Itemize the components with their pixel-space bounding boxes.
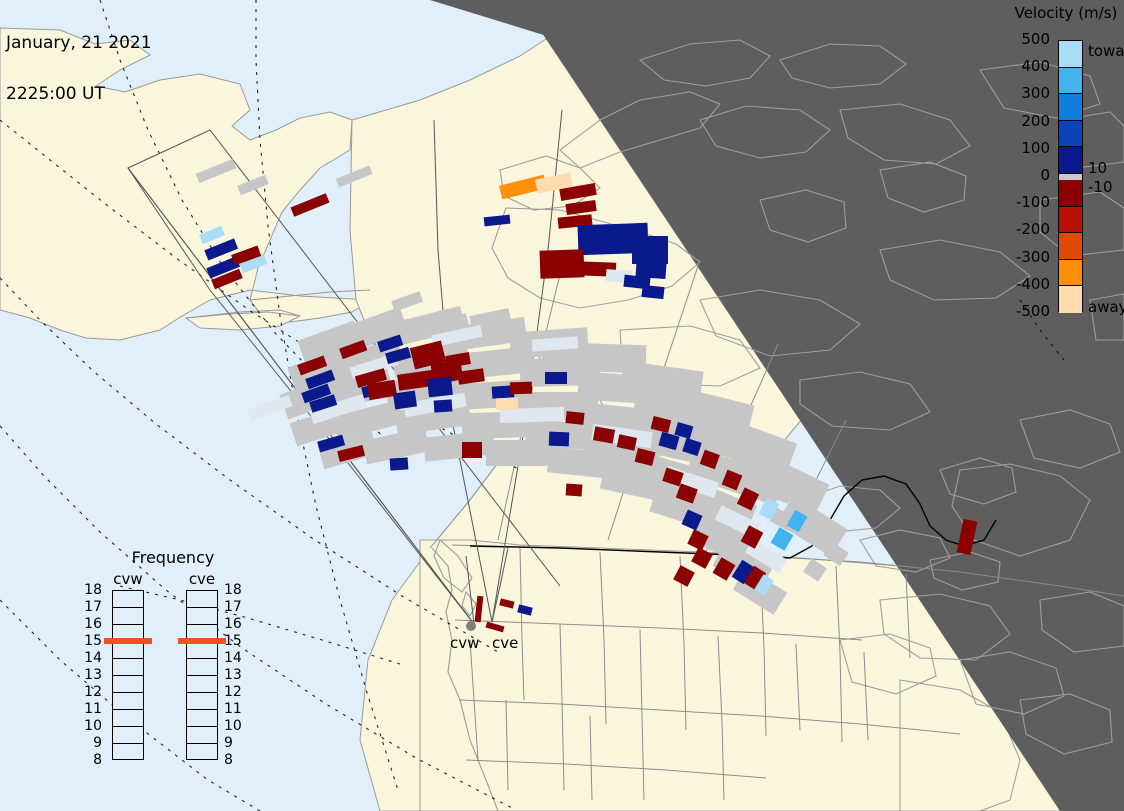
date-label: January, 21 2021 xyxy=(6,35,152,52)
radar-site-marker xyxy=(466,621,476,631)
frequency-legend: Frequency cvw18171615141312111098cve1817… xyxy=(88,548,268,788)
colorbar-tick-neg500: -500 xyxy=(994,304,1050,319)
timestamp-block: January, 21 2021 2225:00 UT xyxy=(6,1,152,137)
frequency-tick-cve-9: 9 xyxy=(224,736,246,750)
frequency-tick-cve-16: 16 xyxy=(224,617,246,631)
frequency-tick-cvw-16: 16 xyxy=(80,617,102,631)
frequency-segment xyxy=(187,693,217,710)
frequency-segment xyxy=(113,693,143,710)
frequency-tick-cve-8: 8 xyxy=(224,753,246,767)
colorbar-neg-threshold-label: -10 xyxy=(1088,180,1113,195)
frequency-segment xyxy=(113,744,143,761)
frequency-segment xyxy=(113,642,143,659)
colorbar-tick-neg400: -400 xyxy=(994,277,1050,292)
frequency-tick-cve-13: 13 xyxy=(224,668,246,682)
frequency-segment xyxy=(187,744,217,761)
colorbar-band-10 xyxy=(1059,286,1082,313)
frequency-tick-cvw-12: 12 xyxy=(80,685,102,699)
frequency-segment xyxy=(113,608,143,625)
site-label-cvw: cvw xyxy=(450,634,479,652)
colorbar-tick-0: 0 xyxy=(994,168,1050,183)
colorbar-tick-neg200: -200 xyxy=(994,222,1050,237)
frequency-segment xyxy=(187,676,217,693)
frequency-tick-cvw-18: 18 xyxy=(80,583,102,597)
frequency-segment xyxy=(113,659,143,676)
colorbar-tick-300: 300 xyxy=(994,86,1050,101)
frequency-title: Frequency xyxy=(88,548,258,567)
colorbar-away-label: away xyxy=(1088,300,1124,315)
colorbar-toward-label: toward xyxy=(1088,44,1124,59)
frequency-tick-cve-18: 18 xyxy=(224,583,246,597)
colorbar-pos-threshold-label: 10 xyxy=(1088,161,1107,176)
site-label-cve: cve xyxy=(492,634,518,652)
frequency-segment xyxy=(113,710,143,727)
colorbar-strip xyxy=(1058,40,1083,312)
colorbar-band-9 xyxy=(1059,260,1082,287)
colorbar-band-1 xyxy=(1059,68,1082,95)
frequency-tick-cvw-13: 13 xyxy=(80,668,102,682)
radar-fan-plot: cvw cve January, 21 2021 2225:00 UT Velo… xyxy=(0,0,1124,811)
frequency-segment xyxy=(187,659,217,676)
frequency-tick-cvw-17: 17 xyxy=(80,600,102,614)
colorbar-tick-neg300: -300 xyxy=(994,250,1050,265)
colorbar-tick-200: 200 xyxy=(994,114,1050,129)
frequency-tick-cvw-14: 14 xyxy=(80,651,102,665)
colorbar-band-7 xyxy=(1059,207,1082,234)
frequency-segment xyxy=(113,727,143,744)
frequency-tick-cvw-11: 11 xyxy=(80,702,102,716)
frequency-tick-cvw-10: 10 xyxy=(80,719,102,733)
velocity-colorbar: Velocity (m/s) 5004003002001000-100-200-… xyxy=(1012,0,1124,340)
frequency-marker-cve xyxy=(178,638,226,644)
colorbar-band-2 xyxy=(1059,94,1082,121)
frequency-segment xyxy=(113,676,143,693)
frequency-tick-cvw-15: 15 xyxy=(80,634,102,648)
time-label: 2225:00 UT xyxy=(6,86,152,103)
colorbar-tick-100: 100 xyxy=(994,141,1050,156)
frequency-tick-cve-14: 14 xyxy=(224,651,246,665)
frequency-bar-cvw xyxy=(112,590,144,760)
frequency-segment xyxy=(187,727,217,744)
frequency-tick-cve-12: 12 xyxy=(224,685,246,699)
frequency-tick-cve-11: 11 xyxy=(224,702,246,716)
frequency-segment xyxy=(187,608,217,625)
frequency-segment xyxy=(187,642,217,659)
colorbar-band-0 xyxy=(1059,41,1082,68)
frequency-station-name-cvw: cvw xyxy=(106,570,150,588)
colorbar-tick-500: 500 xyxy=(994,32,1050,47)
frequency-tick-cvw-9: 9 xyxy=(80,736,102,750)
frequency-segment xyxy=(187,710,217,727)
colorbar-band-3 xyxy=(1059,121,1082,148)
colorbar-band-6 xyxy=(1059,180,1082,207)
frequency-tick-cve-15: 15 xyxy=(224,634,246,648)
frequency-marker-cvw xyxy=(104,638,152,644)
colorbar-title: Velocity (m/s) xyxy=(1006,4,1124,22)
frequency-tick-cve-17: 17 xyxy=(224,600,246,614)
colorbar-tick-neg100: -100 xyxy=(994,195,1050,210)
colorbar-band-8 xyxy=(1059,233,1082,260)
frequency-bar-cve xyxy=(186,590,218,760)
frequency-tick-cvw-8: 8 xyxy=(80,753,102,767)
frequency-segment xyxy=(113,591,143,608)
frequency-tick-cve-10: 10 xyxy=(224,719,246,733)
colorbar-band-4 xyxy=(1059,147,1082,174)
frequency-station-name-cve: cve xyxy=(180,570,224,588)
frequency-segment xyxy=(187,591,217,608)
colorbar-tick-400: 400 xyxy=(994,59,1050,74)
